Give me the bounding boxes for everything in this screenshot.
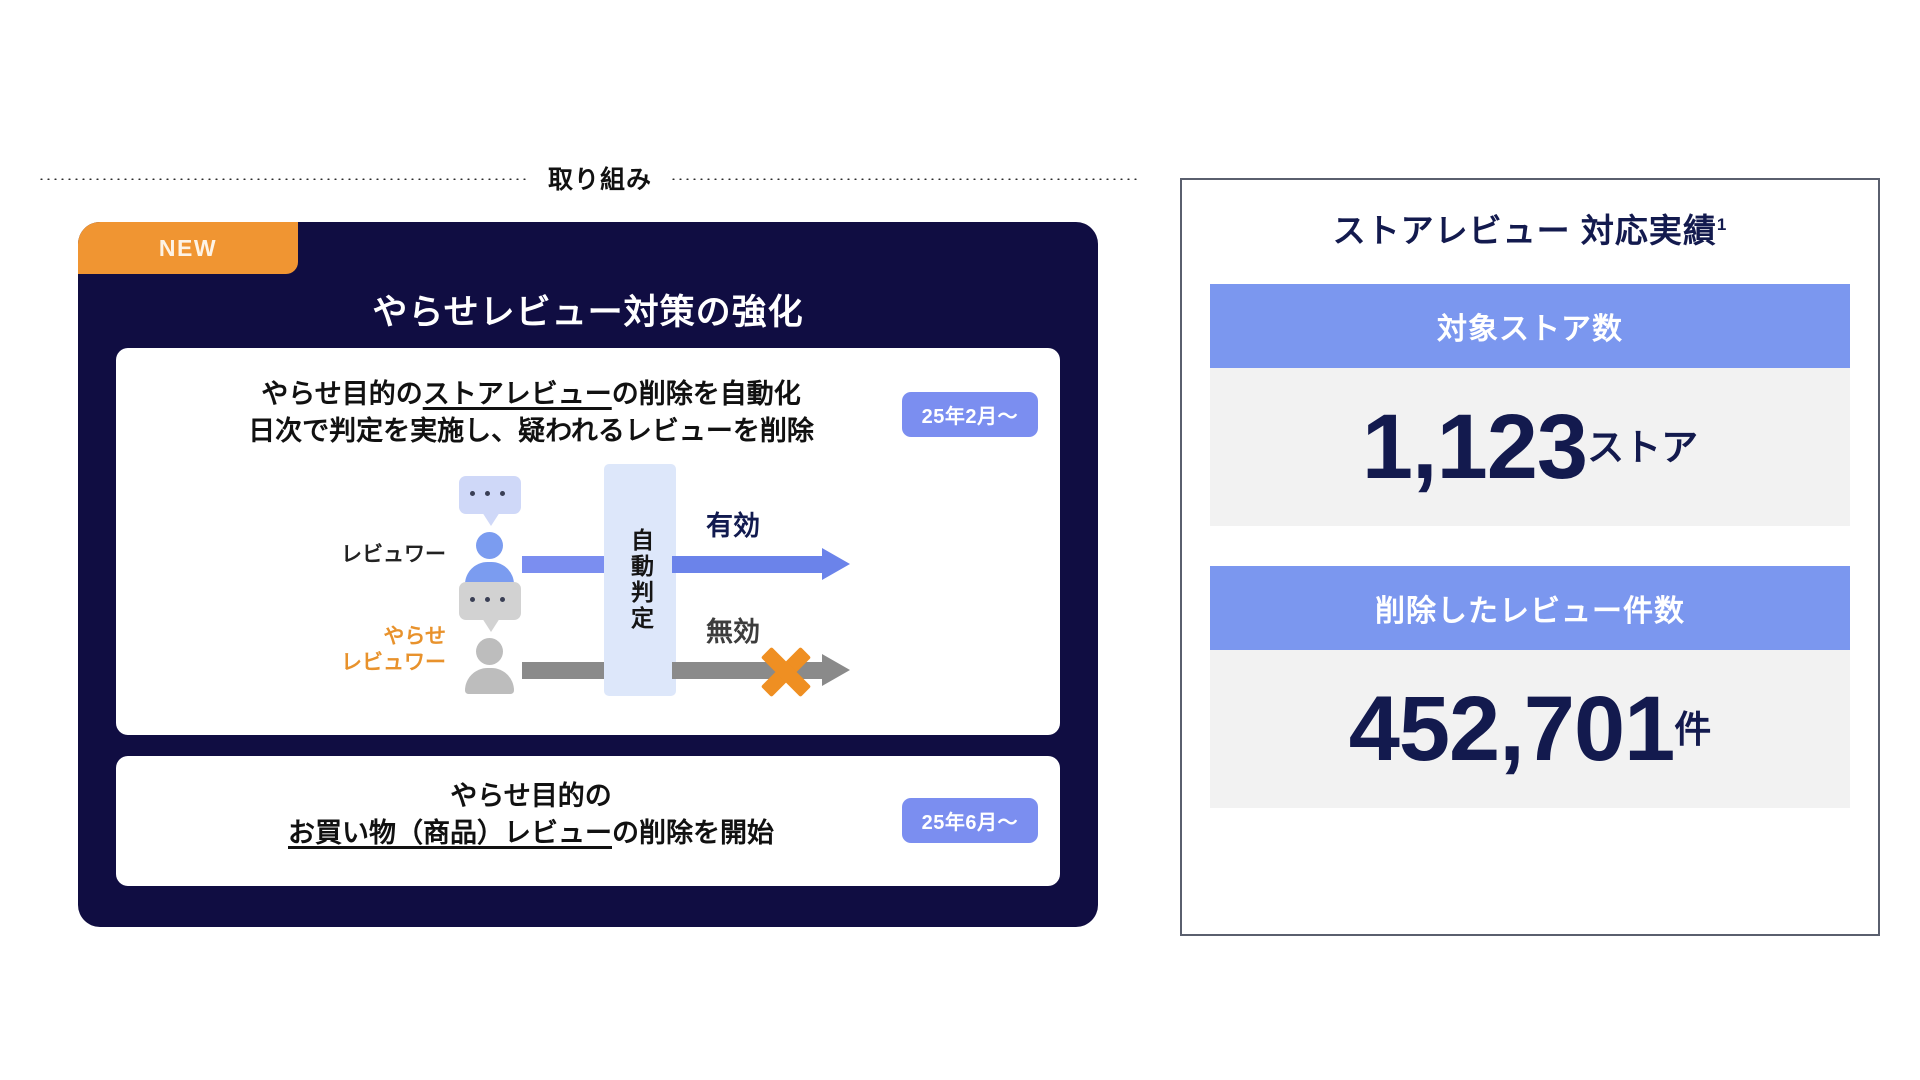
bubble-tail-icon (482, 512, 500, 526)
main-line1-underlined: ストアレビュー (423, 379, 612, 409)
arrow-head-icon (822, 548, 850, 580)
inbound-arrow-blue (522, 556, 608, 573)
section-title: 取り組み (548, 160, 652, 196)
sub-line2-part-b: の削除を開始 (612, 818, 774, 848)
stats-panel: ストアレビュー 対応実績1 対象ストア数 1,123ストア 削除したレビュー件数… (1180, 178, 1880, 936)
date-badge-jun: 25年6月〜 (902, 798, 1038, 843)
x-mark-icon (758, 644, 814, 700)
reviewer-person-icon (452, 476, 526, 596)
stat-block-deleted-reviews: 削除したレビュー件数 452,701件 (1210, 566, 1850, 808)
fake-reviewer-label: やらせ レビュワー (266, 624, 446, 677)
stat-value: 452,701 (1349, 683, 1675, 775)
stat-unit: 件 (1674, 699, 1711, 759)
stat-block-target-stores: 対象ストア数 1,123ストア (1210, 284, 1850, 526)
main-line1-part-b: の削除を自動化 (612, 379, 801, 409)
stat-unit: ストア (1587, 417, 1698, 477)
outbound-arrow-valid (672, 556, 850, 573)
person-head-icon (476, 532, 503, 559)
section-header: 取り組み (38, 160, 1138, 196)
date-badge-feb: 25年2月〜 (902, 392, 1038, 437)
sub-panel-line2: お買い物（商品）レビューの削除を開始 (116, 815, 946, 852)
sub-measure-panel: やらせ目的の お買い物（商品）レビューの削除を開始 25年6月〜 (116, 756, 1060, 886)
inbound-arrow-gray (522, 662, 608, 679)
dotted-rule-left (38, 177, 530, 180)
dotted-rule-right (670, 177, 1138, 180)
stat-value: 1,123 (1362, 401, 1587, 493)
slide-root: 取り組み NEW やらせレビュー対策の強化 やらせ目的のストアレビューの削除を自… (0, 0, 1920, 1080)
main-panel-line1: やらせ目的のストアレビューの削除を自動化 (116, 376, 946, 413)
stats-title: ストアレビュー 対応実績1 (1182, 204, 1878, 252)
stats-title-text: ストアレビュー 対応実績 (1333, 212, 1717, 249)
person-head-icon (476, 638, 503, 665)
stat-body: 452,701件 (1210, 650, 1850, 808)
speech-bubble-icon (459, 476, 521, 514)
main-line1-part-a: やらせ目的の (261, 379, 422, 409)
sub-line2-underlined: お買い物（商品）レビュー (288, 818, 612, 848)
result-invalid-label: 無効 (706, 610, 760, 649)
card-title: やらせレビュー対策の強化 (78, 284, 1098, 335)
review-flow-diagram: レビュワー やらせ レビュワー (266, 476, 966, 706)
bubble-dots-icon (470, 491, 505, 496)
result-valid-label: 有効 (706, 504, 760, 543)
fake-reviewer-person-icon (452, 582, 526, 702)
stats-title-footnote: 1 (1717, 215, 1727, 234)
auto-judgement-label: 自動判定 (629, 528, 652, 632)
stat-header: 対象ストア数 (1210, 284, 1850, 368)
sub-panel-text: やらせ目的の お買い物（商品）レビューの削除を開始 (116, 778, 946, 853)
measures-card: NEW やらせレビュー対策の強化 やらせ目的のストアレビューの削除を自動化 日次… (78, 222, 1098, 927)
fake-reviewer-label-line1: やらせ (266, 624, 446, 650)
person-body-icon (465, 668, 514, 694)
stat-header: 削除したレビュー件数 (1210, 566, 1850, 650)
arrow-line (672, 556, 822, 573)
bubble-tail-icon (482, 618, 500, 632)
sub-panel-line1: やらせ目的の (116, 778, 946, 815)
reviewer-label: レビュワー (266, 542, 446, 568)
main-measure-panel: やらせ目的のストアレビューの削除を自動化 日次で判定を実施し、疑われるレビューを… (116, 348, 1060, 735)
fake-reviewer-label-line2: レビュワー (266, 650, 446, 676)
bubble-dots-icon (470, 597, 505, 602)
stat-body: 1,123ストア (1210, 368, 1850, 526)
new-badge: NEW (78, 222, 298, 274)
auto-judgement-box: 自動判定 (604, 464, 676, 696)
main-panel-text: やらせ目的のストアレビューの削除を自動化 日次で判定を実施し、疑われるレビューを… (116, 376, 946, 451)
main-panel-line2: 日次で判定を実施し、疑われるレビューを削除 (116, 413, 946, 450)
speech-bubble-icon (459, 582, 521, 620)
arrow-head-icon (822, 654, 850, 686)
